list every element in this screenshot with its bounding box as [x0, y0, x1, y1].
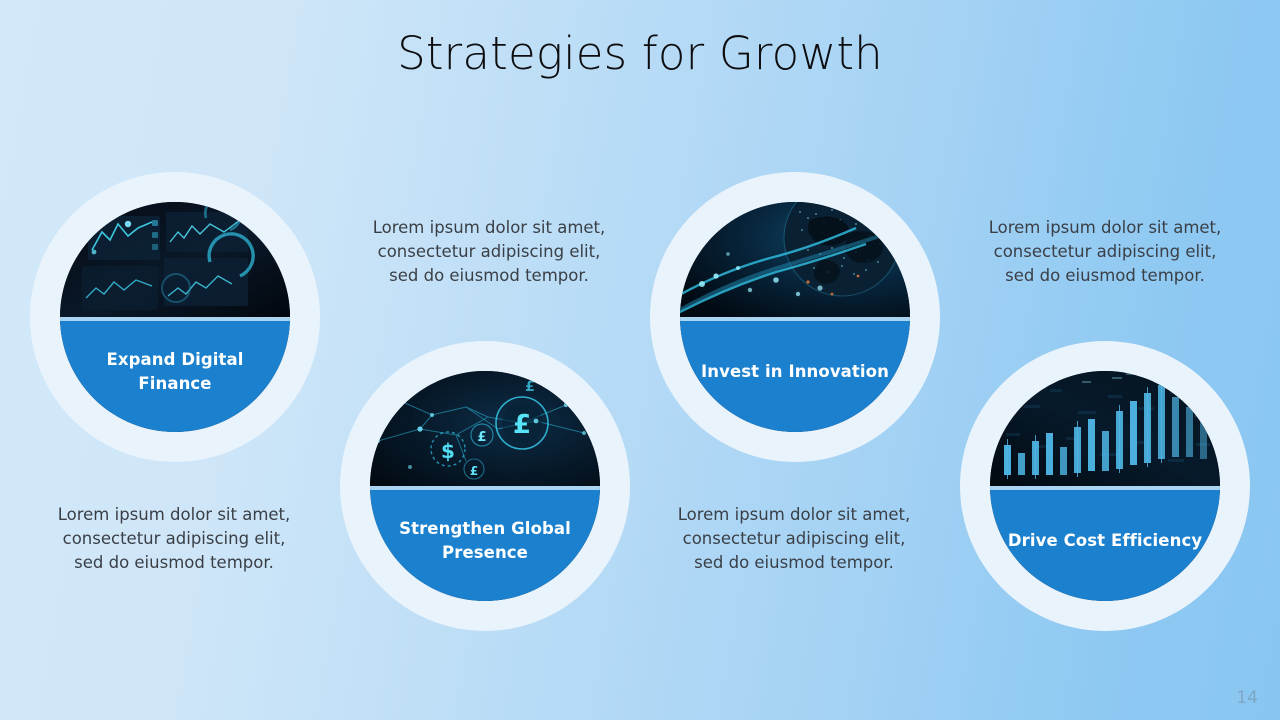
digital-globe-network-image: [680, 202, 910, 317]
circle-inner: Invest in Innovation: [680, 202, 910, 432]
card-body: Expand Digital Finance: [60, 321, 290, 432]
svg-text:$: $: [441, 439, 455, 463]
strategy-card-drive-cost-efficiency[interactable]: Drive Cost Efficiency: [960, 341, 1250, 631]
card-body: Invest in Innovation: [680, 321, 910, 432]
strategy-description-expand-digital-finance: Lorem ipsum dolor sit amet, consectetur …: [49, 503, 299, 575]
strategy-card-invest-in-innovation[interactable]: Invest in Innovation: [650, 172, 940, 462]
card-body: Strengthen Global Presence: [370, 490, 600, 601]
strategy-card-expand-digital-finance[interactable]: Expand Digital Finance: [30, 172, 320, 462]
financial-dashboard-screens-image: [60, 202, 290, 317]
candlestick-stock-chart-image: [990, 371, 1220, 486]
page-title: Strategies for Growth: [0, 27, 1280, 80]
strategy-description-strengthen-global-presence: Lorem ipsum dolor sit amet, consectetur …: [364, 216, 614, 288]
svg-text:£: £: [477, 430, 486, 445]
svg-text:£: £: [470, 464, 478, 478]
card-body: Drive Cost Efficiency: [990, 490, 1220, 601]
strategy-description-invest-in-innovation: Lorem ipsum dolor sit amet, consectetur …: [669, 503, 919, 575]
page-number: 14: [1236, 688, 1258, 708]
strategy-description-drive-cost-efficiency: Lorem ipsum dolor sit amet, consectetur …: [980, 216, 1230, 288]
card-heading: Invest in Innovation: [701, 360, 889, 383]
circle-inner: Drive Cost Efficiency: [990, 371, 1220, 601]
strategy-card-strengthen-global-presence[interactable]: £ $ £ £ £ Strengthen Global Presence: [340, 341, 630, 631]
card-heading: Expand Digital Finance: [76, 348, 274, 395]
currency-network-nodes-image: £ $ £ £ £: [370, 371, 600, 486]
svg-text:£: £: [525, 379, 535, 395]
circle-inner: Expand Digital Finance: [60, 202, 290, 432]
svg-text:£: £: [513, 410, 531, 440]
card-heading: Strengthen Global Presence: [386, 517, 584, 564]
card-heading: Drive Cost Efficiency: [1008, 529, 1202, 552]
circle-inner: £ $ £ £ £ Strengthen Global Presence: [370, 371, 600, 601]
